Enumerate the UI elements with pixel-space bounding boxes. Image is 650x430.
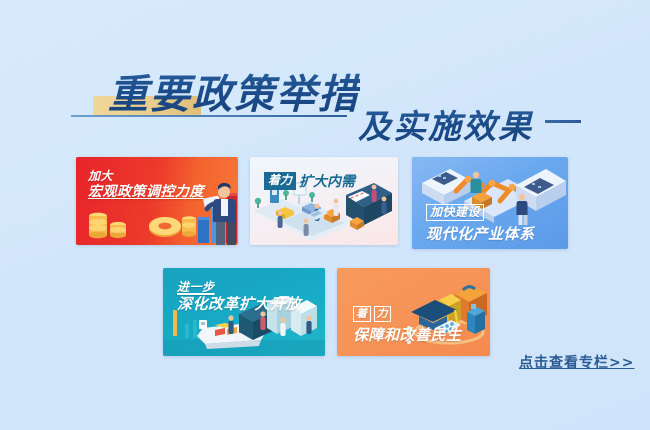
title-trailing-dash: [545, 120, 581, 123]
policy-card-4-line2: 深化改革扩大开放: [177, 295, 301, 313]
policy-card-3-line1: 加快建设: [426, 204, 484, 221]
policy-card-1-line1: 加大: [88, 169, 204, 184]
policy-card-2-text: 着力 扩大内需: [264, 171, 355, 191]
donut-coin-icon: [148, 215, 182, 239]
view-column-link[interactable]: 点击查看专栏>>: [519, 352, 634, 372]
businessperson-icon: [201, 183, 238, 245]
policy-card-macro-control[interactable]: 加大 宏观政策调控力度: [76, 157, 238, 245]
policy-card-reform-opening[interactable]: 进一步 深化改革扩大开放: [163, 268, 325, 356]
coins-icon: [84, 207, 154, 243]
policy-card-livelihood[interactable]: 着 力 保障和改善民生: [337, 268, 490, 356]
policy-card-5-badge: 着 力: [353, 306, 462, 322]
page-title-sub: 及实施效果: [358, 100, 533, 148]
policy-card-1-text: 加大 宏观政策调控力度: [88, 169, 204, 201]
banner-root: 重要政策举措 及实施效果: [0, 0, 650, 430]
policy-card-1-line2: 宏观政策调控力度: [88, 184, 204, 201]
page-title-main: 重要政策举措: [108, 62, 360, 120]
small-coin-stack-icon: [181, 212, 197, 240]
policy-card-3-line2: 现代化产业体系: [426, 225, 535, 243]
policy-card-4-text: 进一步 深化改革扩大开放: [177, 280, 301, 313]
title-block: 重要政策举措 及实施效果: [0, 56, 650, 146]
policy-card-5-line2: 保障和改善民生: [353, 326, 462, 344]
policy-card-5-badge-char-1: 着: [353, 306, 371, 322]
policy-card-industrial-system[interactable]: 加快建设 现代化产业体系: [412, 157, 568, 249]
policy-card-3-text: 加快建设 现代化产业体系: [426, 201, 535, 243]
policy-card-expand-demand[interactable]: 着力 扩大内需: [250, 157, 398, 245]
policy-card-2-line2: 扩大内需: [299, 171, 355, 191]
policy-card-2-badge: 着力: [264, 172, 296, 189]
policy-card-4-line1: 进一步: [177, 280, 301, 295]
policy-card-5-text: 着 力 保障和改善民生: [353, 306, 462, 344]
policy-card-5-badge-char-2: 力: [374, 306, 392, 322]
